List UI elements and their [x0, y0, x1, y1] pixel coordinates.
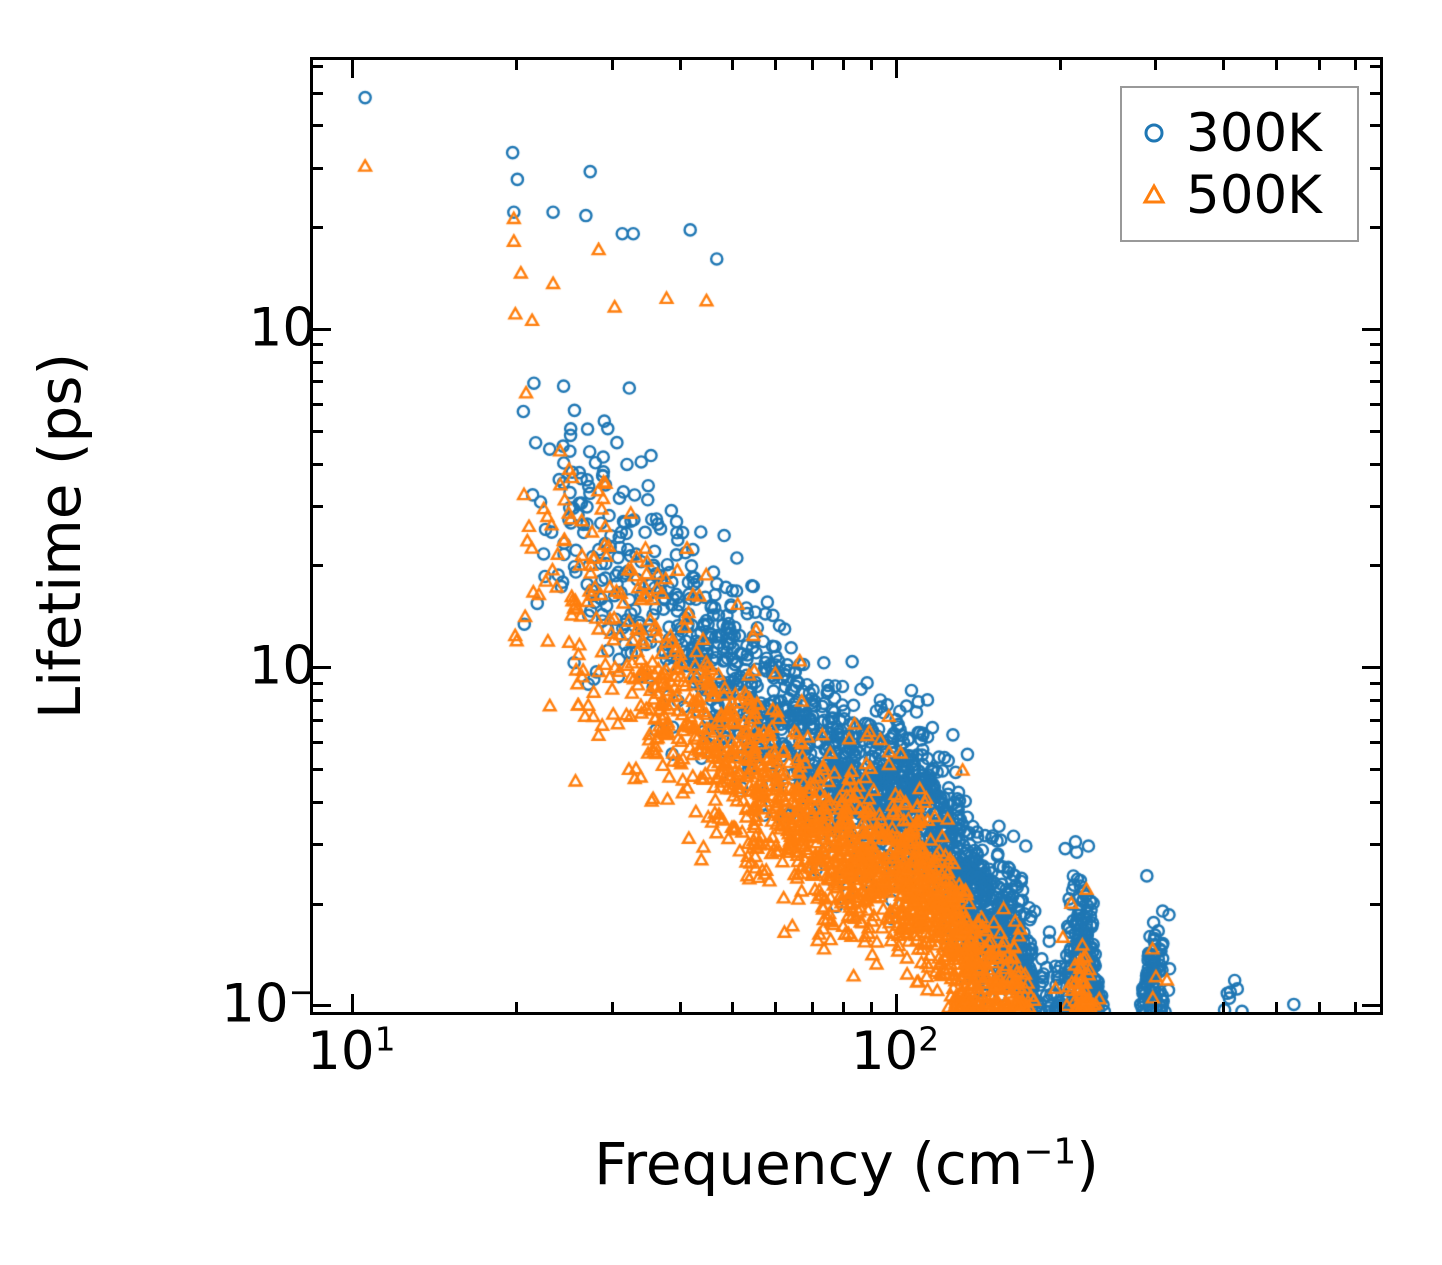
axis-tick	[1370, 226, 1380, 229]
axis-tick	[313, 682, 323, 685]
axis-tick	[313, 361, 323, 364]
axis-tick	[1370, 380, 1380, 383]
axis-tick	[1154, 60, 1157, 70]
x-axis-label-base: Frequency (cm	[594, 1130, 1023, 1198]
axis-tick	[1059, 1002, 1062, 1012]
axis-tick	[731, 1002, 734, 1012]
figure-root: Lifetime (ps) 10110010−1 300K	[0, 0, 1442, 1265]
axis-tick	[1318, 60, 1321, 70]
axis-tick	[1370, 167, 1380, 170]
axis-tick	[1370, 343, 1380, 346]
axis-tick	[870, 60, 873, 70]
axis-tick	[313, 124, 323, 127]
axis-tick	[313, 463, 323, 466]
legend-box: 300K 500K	[1120, 86, 1359, 242]
axis-tick	[1370, 682, 1380, 685]
axis-tick	[313, 768, 323, 771]
axis-tick	[351, 994, 354, 1012]
x-tick-label: 102	[851, 1025, 939, 1078]
axis-tick	[895, 994, 898, 1012]
axis-tick	[1370, 564, 1380, 567]
axis-tick	[313, 505, 323, 508]
plot-area: 300K 500K	[310, 57, 1383, 1015]
axis-tick	[313, 167, 323, 170]
axis-tick	[842, 1002, 845, 1012]
axis-tick	[313, 226, 323, 229]
axis-tick	[313, 564, 323, 567]
axis-tick	[1370, 463, 1380, 466]
axis-tick	[1370, 768, 1380, 771]
axis-tick	[1354, 60, 1357, 70]
axis-tick	[1362, 328, 1380, 331]
y-axis-label: Lifetime (ps)	[26, 353, 94, 719]
axis-tick	[1370, 430, 1380, 433]
legend-entry-500k: 500K	[1122, 164, 1357, 226]
axis-tick	[1370, 719, 1380, 722]
axis-tick	[679, 1002, 682, 1012]
axis-tick	[313, 741, 323, 744]
x-axis-label: Frequency (cm−1)	[310, 1130, 1383, 1198]
axis-tick	[1354, 1002, 1357, 1012]
axis-tick	[895, 60, 898, 78]
axis-tick	[313, 328, 331, 331]
axis-tick	[1370, 403, 1380, 406]
legend-triangle-icon	[1122, 180, 1186, 210]
legend-circle-icon	[1122, 118, 1186, 148]
axis-tick	[1154, 1002, 1157, 1012]
axis-tick	[1222, 1002, 1225, 1012]
axis-tick	[313, 903, 323, 906]
axis-tick	[1275, 60, 1278, 70]
axis-tick	[1362, 1004, 1380, 1007]
axis-tick	[870, 1002, 873, 1012]
axis-tick	[1370, 124, 1380, 127]
axis-tick	[1370, 92, 1380, 95]
legend-entry-300k: 300K	[1122, 102, 1357, 164]
axis-tick	[1275, 1002, 1278, 1012]
axis-tick	[1222, 60, 1225, 70]
y-axis-label-container: Lifetime (ps)	[0, 57, 120, 1015]
axis-tick	[1370, 801, 1380, 804]
axis-tick	[842, 60, 845, 70]
axis-tick	[811, 1002, 814, 1012]
axis-tick	[515, 1002, 518, 1012]
x-tick-label: 101	[307, 1025, 395, 1078]
axis-tick	[1370, 741, 1380, 744]
axis-tick	[313, 92, 323, 95]
x-axis-label-tail: )	[1076, 1130, 1099, 1198]
axis-tick	[1370, 505, 1380, 508]
axis-tick	[313, 801, 323, 804]
axis-tick	[679, 60, 682, 70]
axis-tick	[611, 1002, 614, 1012]
axis-tick	[313, 380, 323, 383]
axis-tick	[1370, 361, 1380, 364]
legend-label-300k: 300K	[1186, 103, 1322, 164]
axis-tick	[1362, 666, 1380, 669]
x-axis-label-exponent: −1	[1023, 1132, 1076, 1173]
axis-tick	[774, 60, 777, 70]
axis-tick	[313, 1004, 331, 1007]
axis-tick	[1318, 1002, 1321, 1012]
axis-tick	[313, 699, 323, 702]
axis-tick	[313, 343, 323, 346]
legend-label-500k: 500K	[1186, 165, 1322, 226]
axis-tick	[1370, 903, 1380, 906]
axis-tick	[1059, 60, 1062, 70]
axis-tick	[611, 60, 614, 70]
axis-tick	[313, 719, 323, 722]
axis-tick	[351, 60, 354, 78]
axis-tick	[774, 1002, 777, 1012]
axis-tick	[515, 60, 518, 70]
axis-tick	[313, 65, 323, 68]
axis-tick	[811, 60, 814, 70]
axis-tick	[313, 403, 323, 406]
axis-tick	[313, 430, 323, 433]
axis-tick	[313, 666, 331, 669]
axis-tick	[1370, 699, 1380, 702]
axis-tick	[313, 843, 323, 846]
axis-tick	[1370, 65, 1380, 68]
axis-tick	[731, 60, 734, 70]
axis-tick	[1370, 843, 1380, 846]
